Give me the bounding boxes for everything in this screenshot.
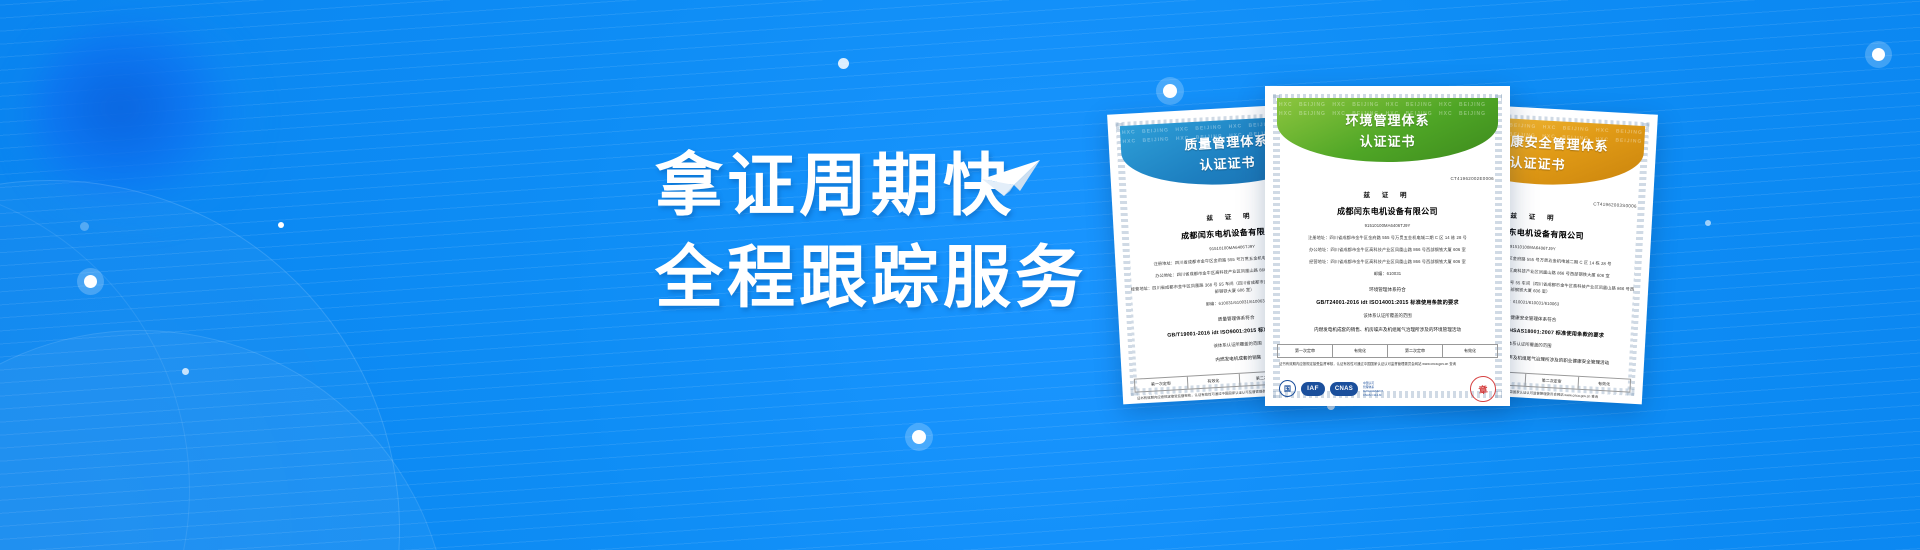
certificate-standard: GB/T24001-2016 idt ISO14001:2015 标准使用条款的… <box>1277 299 1498 306</box>
certificate-audit-table: 第一次定审 有效化 第二次定审 有效化 <box>1277 344 1498 358</box>
certificate-content: HXC BEIJING HXC BEIJING HXC BEIJING HXC … <box>1277 98 1498 394</box>
certificate-company: 成都闰东电机设备有限公司 <box>1277 206 1498 217</box>
decorative-dot <box>84 275 97 288</box>
decorative-dot <box>278 222 284 228</box>
cnas-logo-icon: CNAS <box>1330 382 1358 396</box>
certificate-address-2: 办公地址：四川省成都市金牛区高科技产业区凤凰山路 866 号西部钢铁大厦 606… <box>1277 246 1498 253</box>
decorative-dot <box>80 222 89 231</box>
audit-cell: 第一次定审 <box>1135 377 1188 392</box>
audit-cell: 有效化 <box>1187 374 1240 389</box>
audit-cell: 第二次定审 <box>1388 345 1443 357</box>
certificate-title-line-2: 认证证书 <box>1199 152 1256 174</box>
audit-cell: 有效化 <box>1443 345 1497 357</box>
decorative-dot <box>838 58 849 69</box>
seal-logo-icon: 国 <box>1279 380 1296 397</box>
certificate-unified-code: 91510100MA6406TJ9Y <box>1277 222 1498 229</box>
certificate-title-line-1: 环境管理体系 <box>1345 110 1429 129</box>
certificate-title-line-2: 认证证书 <box>1509 152 1566 174</box>
certificate-system-label: 环境管理体系符合 <box>1277 286 1498 294</box>
certificate-number: CT41962002E0006 <box>1277 176 1498 181</box>
audit-cell: 有效化 <box>1333 345 1388 357</box>
certificate-title-line-2: 认证证书 <box>1359 131 1415 150</box>
certificate-logos: 国 IAF CNAS 中国认可管理体系MANAGEMENTCNAS C114-M… <box>1277 376 1498 402</box>
audit-cell: 第二次定审 <box>1526 374 1579 389</box>
certificate-statement: 兹 证 明 <box>1277 189 1498 199</box>
audit-cell: 有效化 <box>1578 377 1630 392</box>
audit-cell: 第一次定审 <box>1278 345 1333 357</box>
certificate-scope: 内燃发电机成套的销售、机房噪声及机组尾气治理所涉及的环境管理活动 <box>1277 326 1498 334</box>
certificate-group: HXC BEIJING HXC BEIJING HXC BEIJING HXC … <box>1115 60 1875 480</box>
decorative-dot <box>182 368 189 375</box>
decorative-dot <box>912 430 926 444</box>
cnas-caption: 中国认可管理体系MANAGEMENTCNAS C114-M <box>1363 381 1383 397</box>
iaf-logo-icon: IAF <box>1301 382 1325 396</box>
certificate-scope-label: 该体系认证所覆盖的范围 <box>1277 313 1498 319</box>
certificate-postcode: 邮编：610031 <box>1277 270 1498 277</box>
certificate-header: HXC BEIJING HXC BEIJING HXC BEIJING HXC … <box>1277 98 1498 162</box>
certificate-address-1: 注册地址：四川省成都市金牛区金府路 555 号万贯五金机电城二期 C 区 14 … <box>1277 234 1498 241</box>
certificate-footnote: 证书有效期内应按规定接受监督审核，认证有效性可通过中国国家认证认可监督管理委员会… <box>1277 362 1498 368</box>
certificate-environmental-management[interactable]: HXC BEIJING HXC BEIJING HXC BEIJING HXC … <box>1265 86 1510 406</box>
hero-banner: 拿证周期快 全程跟踪服务 HXC BEIJING HXC BEIJING HXC… <box>0 0 1920 550</box>
certificate-address-3: 经营地址：四川省成都市金牛区高科技产业区凤凰山路 866 号西部钢铁大厦 606… <box>1277 258 1498 265</box>
red-seal-icon: 章 <box>1468 374 1497 403</box>
certificate-watermark: HXC BEIJING HXC BEIJING HXC BEIJING HXC … <box>1277 98 1498 162</box>
paper-plane-icon <box>980 158 1042 198</box>
certificate-serial: No.0000001 <box>1277 406 1498 407</box>
